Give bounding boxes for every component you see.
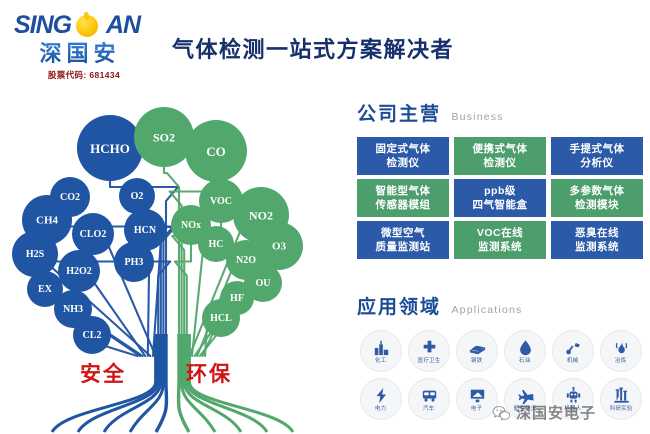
gas-node-label: SO2 [153,131,175,145]
application-label: 机械 [567,357,578,365]
application-item-5[interactable]: 机械 [549,327,597,375]
business-item-line: 检测模块 [575,198,619,212]
oil-drop-icon [516,339,535,356]
business-item-7[interactable]: 微型空气质量监测站 [357,221,449,259]
application-icon-badge: 医疗卫生 [408,330,450,372]
business-item-line: 智能型气体 [376,184,431,198]
applications-section-heading: 应用领域 Applications [357,292,523,319]
gas-node-label: NH3 [63,304,83,315]
gas-node-label: H2S [26,249,45,260]
application-item-4[interactable]: 石油 [501,327,549,375]
gas-node-label: NOx [181,220,201,231]
business-item-5[interactable]: ppb级四气智能盒 [454,179,546,217]
business-item-4[interactable]: 智能型气体传感器模组 [357,179,449,217]
business-item-line: VOC在线 [477,226,523,240]
business-title-cn: 公司主营 [357,104,441,125]
brand-logo: SING AN 深国安 股票代码: 681434 [14,12,164,82]
business-item-line: 检测仪 [484,156,517,170]
page-title: 气体检测一站式方案解决者 [172,32,454,64]
gas-node-label: HF [230,293,244,304]
logo-wordmark-right: AN [106,12,140,38]
application-icon-badge: 汽车 [408,378,450,420]
application-label: 冶炼 [615,357,626,365]
gas-tree-diagram: HCHOCO2O2CH4CLO2HCNH2SPH3H2O2EXNH3CL2SO2… [0,96,345,434]
gas-node-label: CO [206,144,226,159]
application-item-12[interactable]: 科研实验 [597,375,645,423]
orange-circle-o-icon [76,15,98,37]
application-item-8[interactable]: 汽车 [405,375,453,423]
logo-wordmark: SING AN [14,12,160,38]
business-item-line: 监测系统 [575,240,619,254]
logo-name-cn: 深国安 [14,41,146,67]
business-item-3[interactable]: 手提式气体分析仪 [551,137,643,175]
business-item-8[interactable]: VOC在线监测系统 [454,221,546,259]
business-item-line: 恶臭在线 [575,226,619,240]
applications-title-en: Applications [451,304,522,316]
application-label: 电子 [471,405,482,413]
gas-node-label: HCHO [90,141,130,156]
application-item-6[interactable]: 冶炼 [597,327,645,375]
steel-beam-icon [468,339,487,356]
stock-code: 股票代码: 681434 [14,69,154,81]
business-item-line: 质量监测站 [376,240,431,254]
application-item-3[interactable]: 钢铁 [453,327,501,375]
gas-node-label: CH4 [36,215,59,227]
logo-wordmark-left: SING [14,12,71,38]
gas-node-label: HCL [210,313,232,324]
application-label: 科研实验 [610,405,633,413]
application-item-2[interactable]: 医疗卫生 [405,327,453,375]
application-label: 电力 [375,405,386,413]
ground-word-environment: 环保 [186,358,232,388]
factory-icon [372,339,391,356]
gas-node-label: H2O2 [66,266,92,277]
gas-node-label: VOC [210,196,232,207]
tree-svg: HCHOCO2O2CH4CLO2HCNH2SPH3H2O2EXNH3CL2SO2… [0,96,345,434]
application-label: 化工 [375,357,386,365]
watermark-text: 深国安电子 [516,402,596,423]
application-item-1[interactable]: 化工 [357,327,405,375]
business-grid: 固定式气体检测仪便携式气体检测仪手提式气体分析仪智能型气体传感器模组ppb级四气… [357,137,643,259]
gas-node-label: CL2 [83,330,102,341]
business-item-line: ppb级 [484,184,516,198]
business-item-2[interactable]: 便携式气体检测仪 [454,137,546,175]
business-item-line: 便携式气体 [473,142,528,156]
wechat-watermark: 深国安电子 [492,402,596,423]
wechat-icon [492,405,511,421]
business-item-line: 传感器模组 [376,198,431,212]
applications-title-cn: 应用领域 [357,297,441,318]
gas-node-label: N2O [236,255,256,266]
business-item-1[interactable]: 固定式气体检测仪 [357,137,449,175]
business-item-line: 多参数气体 [570,184,625,198]
business-title-en: Business [451,111,503,123]
flame-icon [612,339,631,356]
gas-node-label: OU [256,278,271,289]
application-icon-badge: 钢铁 [456,330,498,372]
lightning-bolt-icon [372,387,391,404]
application-label: 医疗卫生 [418,357,441,365]
ground-word-safety: 安全 [80,358,126,388]
tree-branch [148,274,149,356]
gas-node-label: PH3 [125,257,144,268]
business-item-line: 监测系统 [478,240,522,254]
business-item-line: 检测仪 [387,156,420,170]
application-icon-badge: 科研实验 [600,378,642,420]
business-section-heading: 公司主营 Business [357,99,504,126]
gas-node-label: O3 [272,241,287,253]
medical-cross-icon [420,339,439,356]
poster-canvas: SING AN 深国安 股票代码: 681434 气体检测一站式方案解决者 HC… [0,0,650,434]
bus-icon [420,387,439,404]
business-item-line: 分析仪 [581,156,614,170]
application-label: 钢铁 [471,357,482,365]
business-item-line: 手提式气体 [570,142,625,156]
gas-node-label: CLO2 [80,229,107,240]
application-item-7[interactable]: 电力 [357,375,405,423]
lab-flask-icon [612,387,631,404]
monitor-icon [468,387,487,404]
application-label: 石油 [519,357,530,365]
business-item-line: 固定式气体 [376,142,431,156]
business-item-6[interactable]: 多参数气体检测模块 [551,179,643,217]
gas-node-label: HC [209,239,224,250]
gas-node-label: NO2 [249,209,273,223]
gas-node-label: EX [38,284,53,295]
application-icon-badge: 电力 [360,378,402,420]
business-item-line: 四气智能盒 [473,198,528,212]
tree-branch [192,255,203,356]
business-item-9[interactable]: 恶臭在线监测系统 [551,221,643,259]
application-icon-badge: 石油 [504,330,546,372]
application-icon-badge: 化工 [360,330,402,372]
gas-node-label: O2 [131,191,144,202]
gas-node-label: HCN [134,225,157,236]
application-label: 汽车 [423,405,434,413]
robot-arm-icon [564,339,583,356]
application-icon-badge: 冶炼 [600,330,642,372]
application-icon-badge: 机械 [552,330,594,372]
business-item-line: 微型空气 [381,226,425,240]
